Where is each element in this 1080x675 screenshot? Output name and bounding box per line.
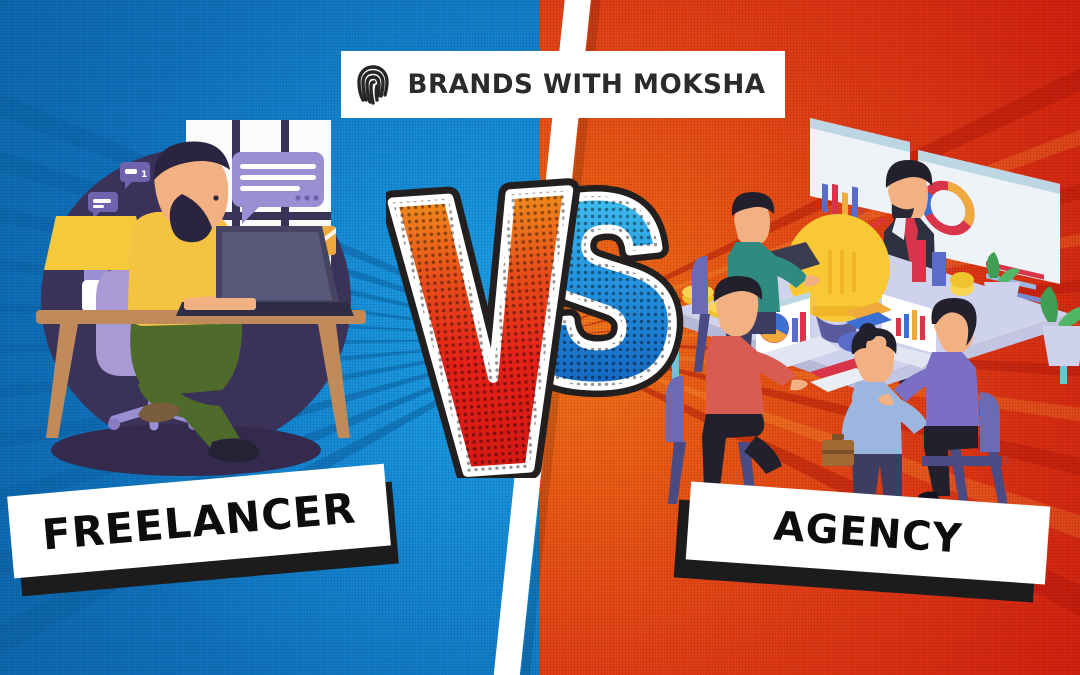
fingerprint-icon bbox=[355, 64, 391, 106]
agency-label-banner: AGENCY bbox=[668, 486, 1068, 606]
agency-illustration bbox=[660, 100, 1080, 510]
freelancer-label: FREELANCER bbox=[40, 483, 358, 559]
freelancer-label-banner: FREELANCER bbox=[0, 470, 410, 600]
brand-header-bar: BRANDS WITH MOKSHA bbox=[341, 51, 785, 118]
agency-label: AGENCY bbox=[772, 503, 964, 562]
svg-text:1: 1 bbox=[141, 170, 147, 180]
comparison-graphic: 1 1 bbox=[0, 0, 1080, 675]
freelancer-illustration: 1 1 bbox=[36, 120, 366, 490]
brand-name: BRANDS WITH MOKSHA bbox=[408, 69, 766, 100]
vs-graphic bbox=[386, 178, 696, 478]
potted-plant-floor bbox=[1040, 286, 1080, 366]
